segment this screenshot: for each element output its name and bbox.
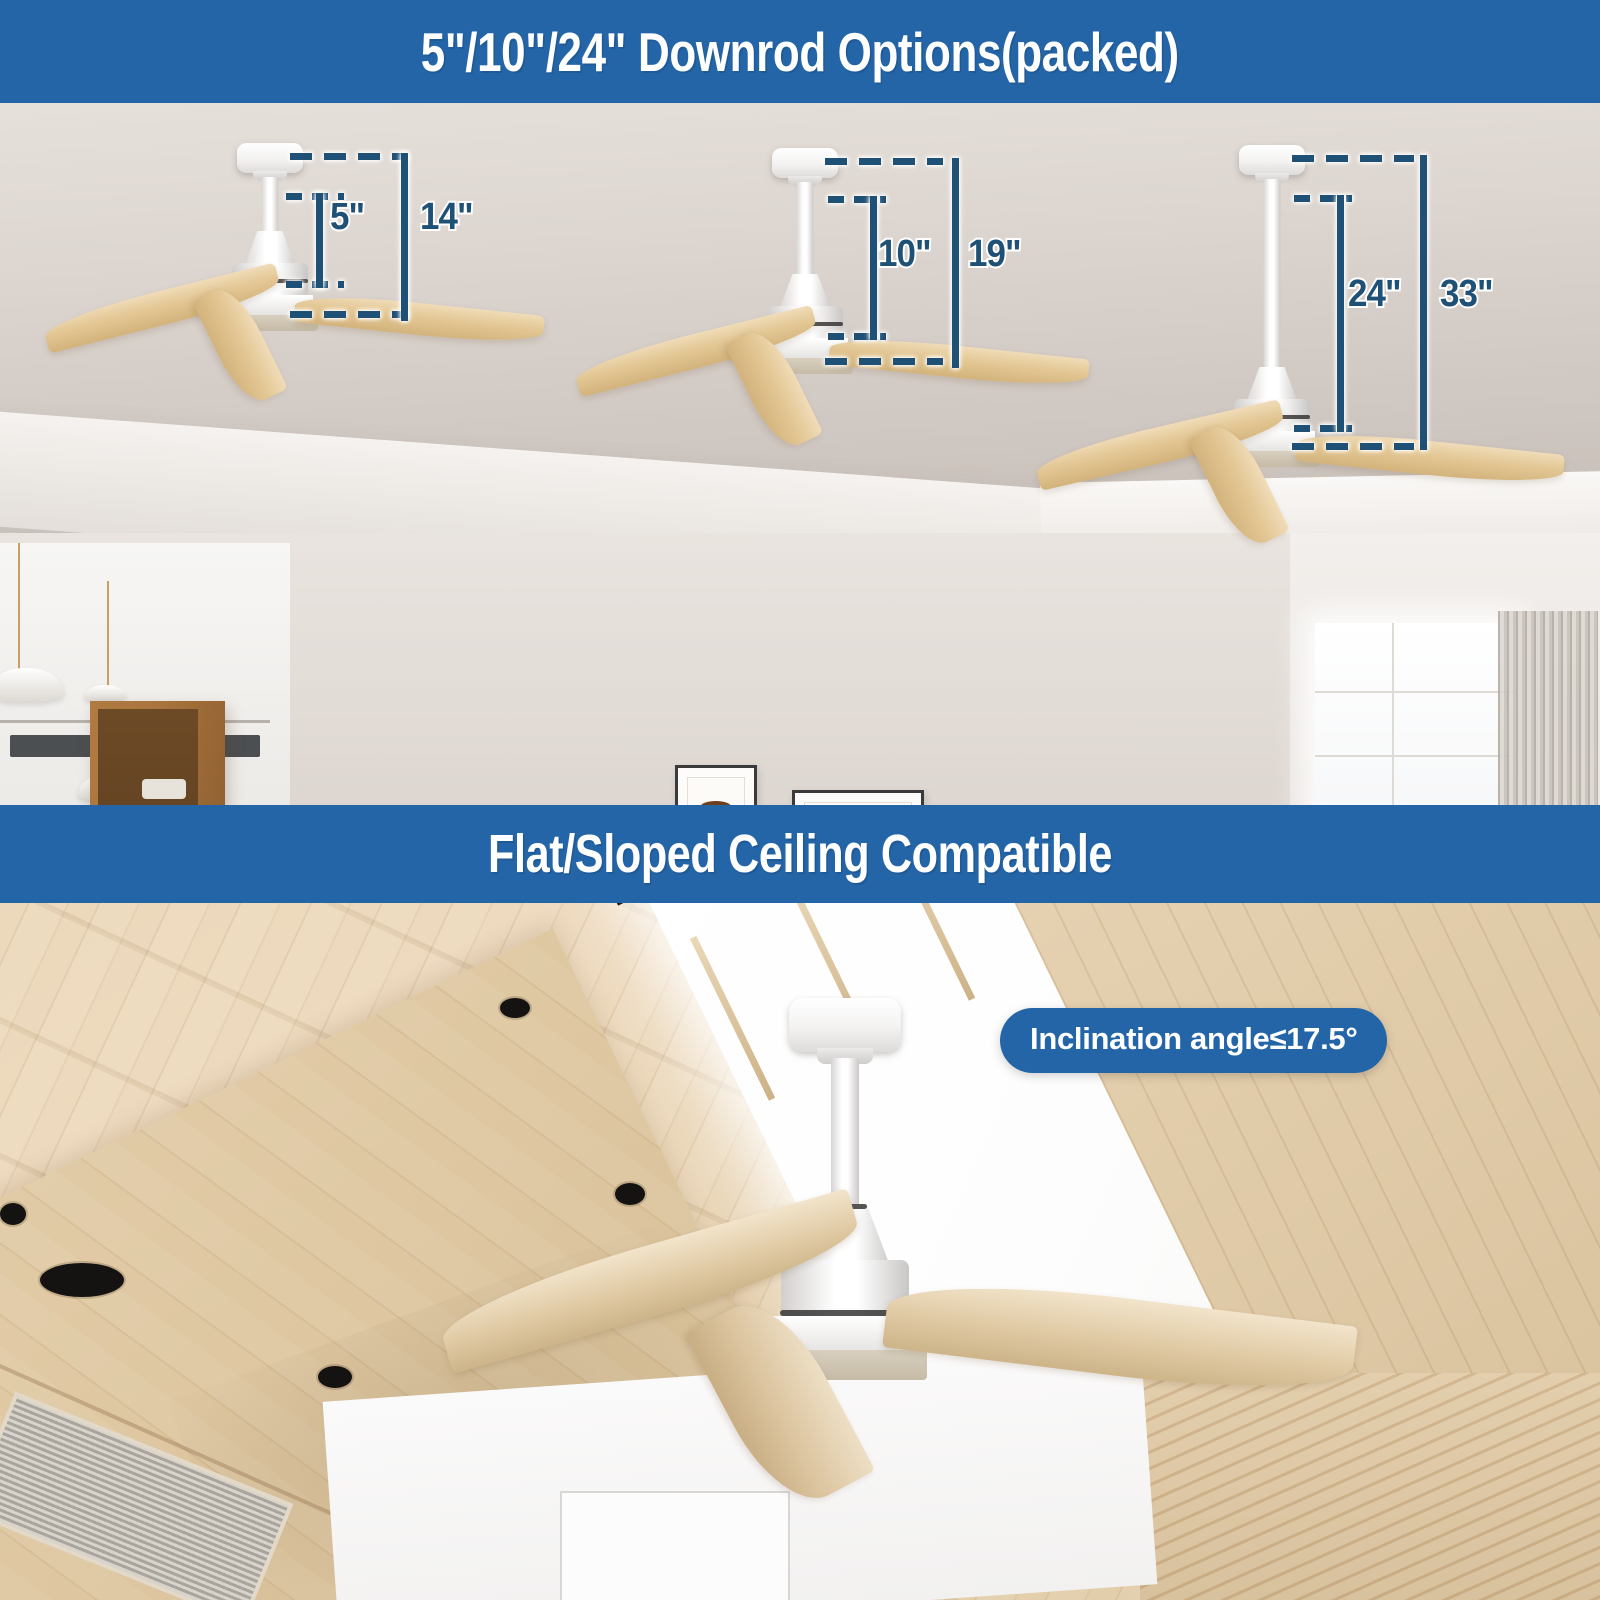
dim-rod-label-5in: 5": [330, 196, 364, 239]
window-mullion: [1392, 623, 1394, 805]
window-curtain: [1498, 611, 1598, 805]
recessed-light: [318, 1366, 352, 1388]
dim-top-dash-1: [290, 153, 408, 160]
dim-rod-bottom-dash-2: [828, 333, 886, 340]
window-mullion: [1315, 755, 1515, 757]
window-glass: [1315, 623, 1515, 805]
dim-top-dash-3: [1292, 155, 1414, 162]
fan-downrod: [797, 182, 814, 276]
top-banner-title: 5"/10"/24" Downrod Options(packed): [421, 20, 1179, 84]
dim-total-line-1: [401, 153, 408, 321]
fan-downrod: [831, 1058, 859, 1208]
dim-rod-bracket-2: [870, 196, 877, 340]
middle-banner: Flat/Sloped Ceiling Compatible: [0, 805, 1600, 903]
pendant-cord-1: [18, 543, 20, 673]
pendant-shade-3: [84, 685, 126, 701]
recessed-light: [615, 1183, 645, 1205]
dim-rod-top-dash-2: [828, 196, 886, 203]
kitchen-cabinet: [90, 701, 225, 805]
fan-downrod: [1264, 179, 1281, 369]
dim-total-line-3: [1420, 155, 1427, 450]
dim-total-label-14in: 14": [420, 196, 473, 239]
dim-rod-bracket-1: [316, 193, 323, 288]
wall-frame-2: [675, 765, 757, 805]
frame-mat: [687, 777, 745, 805]
dim-total-label-19in: 19": [968, 233, 1021, 276]
wall-recessed-panel: [560, 1491, 790, 1600]
flat-ceiling-scene: 5" 14" 10" 19" 24": [0, 103, 1600, 805]
window-mullion: [1315, 691, 1515, 693]
middle-banner-title: Flat/Sloped Ceiling Compatible: [488, 823, 1112, 885]
dim-bottom-dash-2: [825, 358, 943, 365]
dim-bottom-dash-3: [1292, 443, 1414, 450]
recessed-light: [500, 998, 530, 1018]
fan-canopy: [789, 998, 901, 1052]
dim-top-dash-2: [825, 158, 943, 165]
dim-rod-label-10in: 10": [878, 233, 931, 276]
recessed-light: [0, 1203, 26, 1225]
dim-rod-label-24in: 24": [1348, 273, 1401, 316]
dim-bottom-dash-1: [290, 311, 408, 318]
wall-frame-3: [792, 790, 924, 805]
inclination-angle-badge: Inclination angle≤17.5°: [1000, 1008, 1387, 1073]
top-banner: 5"/10"/24" Downrod Options(packed): [0, 0, 1600, 103]
cabinet-bowl: [142, 779, 186, 799]
recessed-light: [40, 1263, 124, 1297]
dim-rod-bottom-dash-1: [286, 281, 344, 288]
fan-downrod: [262, 177, 279, 233]
wood-slat-wall-bottom: [1140, 1373, 1600, 1600]
dim-total-line-2: [952, 158, 959, 368]
dim-rod-bracket-3: [1337, 195, 1344, 432]
dim-total-label-33in: 33": [1440, 273, 1493, 316]
sloped-ceiling-scene: Inclination angle≤17.5°: [0, 903, 1600, 1600]
